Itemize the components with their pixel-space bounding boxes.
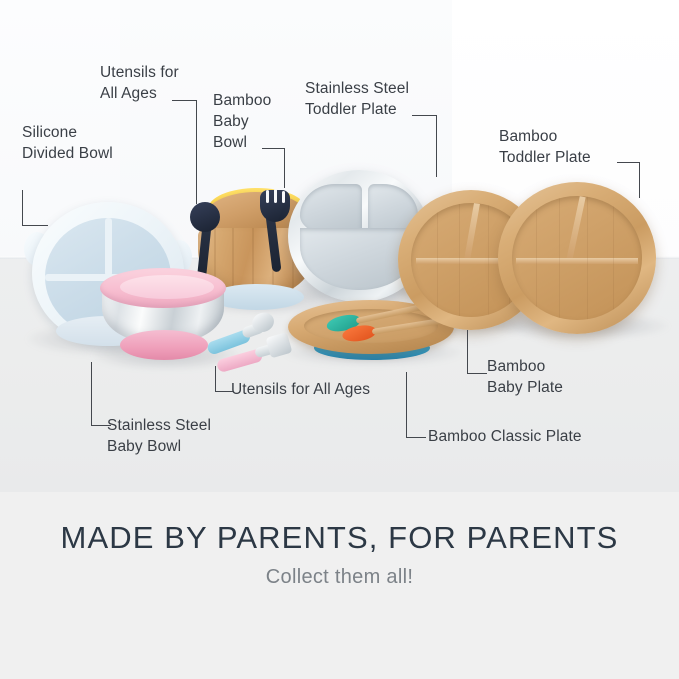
callout-label-utensils-all-ages-top: Utensils for All Ages bbox=[100, 62, 179, 104]
callout-label-bamboo-toddler-plate: Bamboo Toddler Plate bbox=[499, 126, 591, 168]
callout-label-bamboo-classic-plate: Bamboo Classic Plate bbox=[428, 426, 582, 447]
callout-leader-silicone-divided-bowl bbox=[22, 190, 50, 226]
callout-leader-bamboo-toddler-plate bbox=[617, 162, 641, 198]
infographic-root: Silicone Divided Bowl Utensils for All A… bbox=[0, 0, 679, 679]
footer-headline: MADE BY PARENTS, FOR PARENTS bbox=[0, 520, 679, 556]
steel-baby-bowl-lid bbox=[100, 268, 226, 308]
callout-leader-bamboo-baby-plate bbox=[467, 330, 489, 374]
callout-label-stainless-steel-toddler-plate: Stainless Steel Toddler Plate bbox=[305, 78, 409, 120]
callout-leader-stainless-steel-baby-bowl bbox=[91, 362, 113, 426]
callout-label-stainless-steel-baby-bowl: Stainless Steel Baby Bowl bbox=[107, 415, 211, 457]
product-navy-spoon bbox=[188, 196, 222, 276]
callout-leader-stainless-steel-toddler-plate bbox=[412, 115, 438, 177]
callout-label-utensils-all-ages-bottom: Utensils for All Ages bbox=[231, 379, 370, 400]
callout-label-bamboo-baby-bowl: Bamboo Baby Bowl bbox=[213, 90, 271, 153]
callout-leader-utensils-all-ages-bottom bbox=[215, 366, 235, 392]
footer-subline: Collect them all! bbox=[0, 566, 679, 589]
footer-banner: MADE BY PARENTS, FOR PARENTS Collect the… bbox=[0, 492, 679, 679]
bamboo-toddler-plate-b-face bbox=[498, 182, 656, 334]
bamboo-toddler-plate-b-well bbox=[512, 196, 642, 321]
callout-label-silicone-divided-bowl: Silicone Divided Bowl bbox=[22, 122, 113, 164]
callout-leader-utensils-all-ages-top bbox=[172, 100, 198, 204]
steel-baby-bowl-lid-inner bbox=[120, 275, 214, 299]
product-bamboo-toddler-plate-b bbox=[498, 182, 656, 334]
steel-baby-bowl-suction-base bbox=[120, 330, 208, 360]
callout-label-bamboo-baby-plate: Bamboo Baby Plate bbox=[487, 356, 563, 398]
callout-leader-bamboo-baby-bowl bbox=[262, 148, 286, 188]
callout-leader-bamboo-classic-plate bbox=[406, 372, 428, 438]
